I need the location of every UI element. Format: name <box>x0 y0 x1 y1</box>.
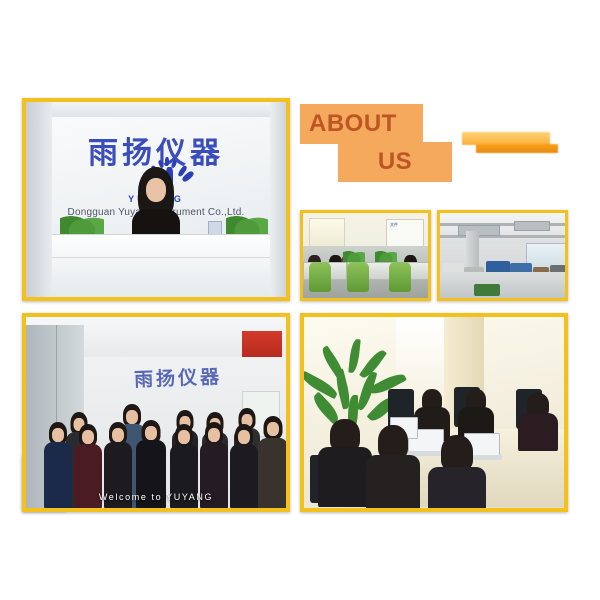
person-face <box>208 428 220 442</box>
person-face <box>267 422 279 436</box>
reception-lobby-photo: 雨扬仪器 YUYANG Dongguan Yuyang Instrument C… <box>22 98 290 301</box>
meeting-attendee <box>518 393 558 451</box>
floor-machine <box>474 284 500 296</box>
person-face <box>238 430 250 444</box>
green-office-chair <box>309 262 331 292</box>
red-wall-banner <box>242 331 282 357</box>
green-office-chair <box>347 262 369 292</box>
meeting-attendee <box>318 419 372 507</box>
meeting-attendee <box>428 435 486 508</box>
person-face <box>178 430 190 444</box>
deco-bar-bottom <box>476 144 558 153</box>
us-label: US <box>338 142 452 182</box>
green-office-chair <box>389 262 411 292</box>
staff-crowd <box>26 378 286 508</box>
person-body <box>318 447 372 507</box>
about-label: ABOUT <box>300 104 423 144</box>
group-photo-caption: Welcome to YUYANG <box>26 492 286 502</box>
person-face <box>145 426 157 440</box>
person-body <box>518 413 558 451</box>
double-bar-decoration-icon <box>462 132 558 156</box>
person-face <box>82 430 94 444</box>
reception-desk <box>52 234 270 297</box>
receptionist-person <box>130 167 182 239</box>
person-face <box>52 428 64 442</box>
person-face <box>112 428 124 442</box>
whiteboard-text: 文件 <box>390 222 398 228</box>
team-group-photo: 雨扬仪器 <box>22 313 290 512</box>
workshop-floor <box>440 272 565 298</box>
workshop-factory-photo <box>437 210 568 301</box>
person-head <box>441 435 473 471</box>
person-head <box>378 425 408 459</box>
person-face <box>146 178 166 202</box>
person-body <box>366 455 420 508</box>
support-pillar <box>466 231 479 270</box>
meeting-attendee <box>366 425 420 508</box>
lobby-ceiling <box>26 102 286 117</box>
open-office-photo: 文件 <box>300 210 431 301</box>
person-body <box>428 467 486 508</box>
desk-item-white <box>208 221 222 235</box>
ceiling-duct <box>514 221 550 231</box>
about-us-heading: ABOUT US <box>300 104 452 180</box>
meeting-room-photo <box>300 313 568 512</box>
about-us-collage: ABOUT US 雨扬仪器 YUYANG D <box>0 0 600 600</box>
ceiling-duct <box>458 225 500 236</box>
floor-machine <box>506 285 524 294</box>
